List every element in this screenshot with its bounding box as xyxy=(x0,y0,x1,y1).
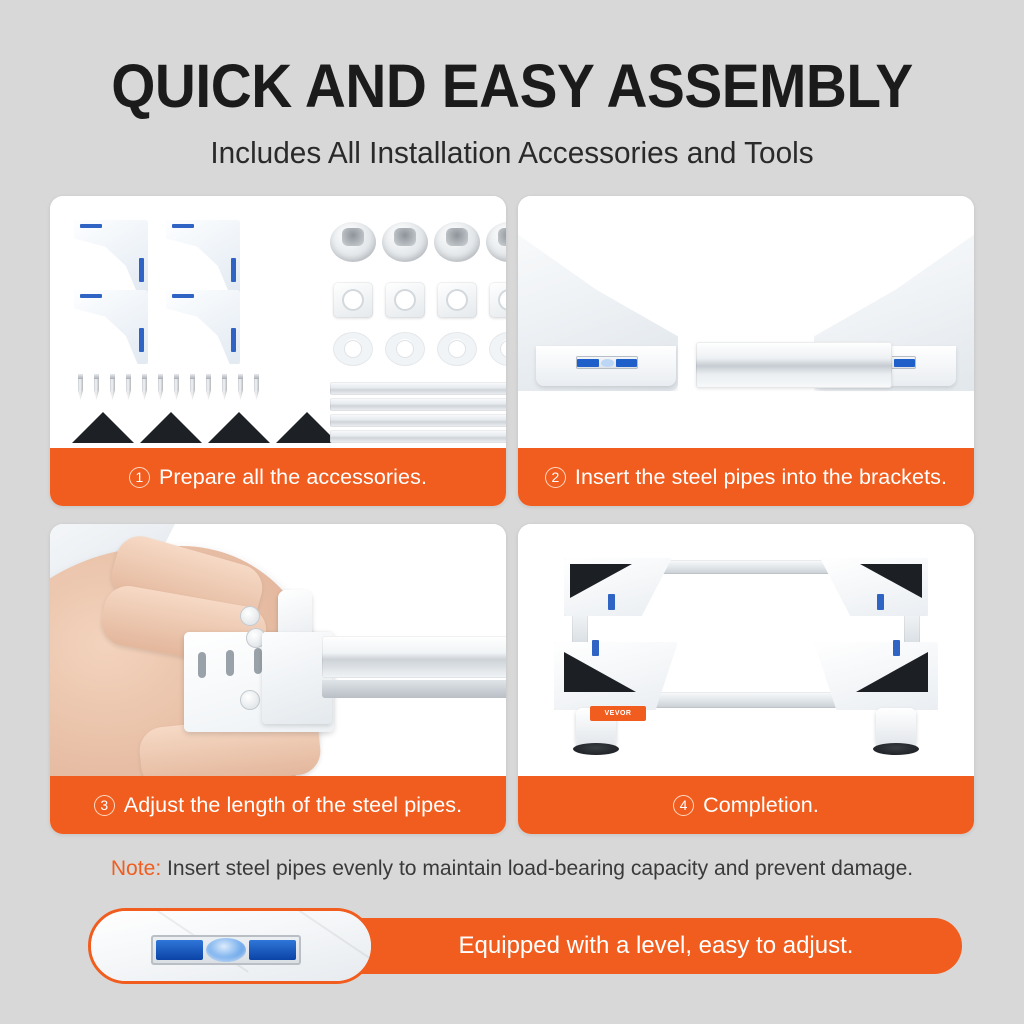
step-1-caption-text: Prepare all the accessories. xyxy=(159,465,427,490)
blue-accent xyxy=(592,640,599,656)
screw-part xyxy=(158,374,163,400)
step-panel-1: 1 Prepare all the accessories. xyxy=(50,196,506,506)
screw-part xyxy=(222,374,227,400)
rubber-pad-part xyxy=(140,412,202,443)
blue-accent xyxy=(877,594,884,610)
note-line: Note: Insert steel pipes evenly to maint… xyxy=(10,856,1014,881)
level-liquid-left xyxy=(577,359,599,367)
adjustable-foot-part xyxy=(434,222,480,262)
adjustable-foot-part xyxy=(382,222,428,262)
square-nut-part xyxy=(437,282,477,318)
step-panel-4: VEVOR 4 Completion. xyxy=(518,524,974,834)
step-3-caption: 3 Adjust the length of the steel pipes. xyxy=(50,776,506,834)
square-nut-part xyxy=(489,282,506,318)
bracket-boss xyxy=(240,606,260,626)
bracket-slot xyxy=(226,650,234,676)
corner-bracket-part xyxy=(74,220,148,294)
screw-part xyxy=(206,374,211,400)
level-liquid-right xyxy=(616,359,638,367)
corner-bracket-part xyxy=(166,220,240,294)
rubber-pad-part xyxy=(72,412,134,443)
screw-part xyxy=(190,374,195,400)
lock-ring-part xyxy=(385,332,425,366)
brand-label: VEVOR xyxy=(590,706,646,721)
steel-pipe-part xyxy=(330,414,506,427)
screw-part xyxy=(174,374,179,400)
steel-pipe xyxy=(322,636,506,678)
page-subtitle: Includes All Installation Accessories an… xyxy=(20,135,1003,171)
page-title: QUICK AND EASY ASSEMBLY xyxy=(36,55,988,117)
step-3-illustration xyxy=(50,524,506,776)
level-vial xyxy=(151,935,301,965)
rubber-pad-part xyxy=(208,412,270,443)
step-3-caption-text: Adjust the length of the steel pipes. xyxy=(124,793,462,818)
steel-pipe-part xyxy=(330,398,506,411)
adjustable-foot-part xyxy=(330,222,376,262)
step-number-2: 2 xyxy=(545,467,566,488)
step-4-caption-text: Completion. xyxy=(703,793,819,818)
step-4-caption: 4 Completion. xyxy=(518,776,974,834)
level-bubble xyxy=(601,359,614,367)
steel-pipe-part xyxy=(330,382,506,395)
lock-ring-part xyxy=(437,332,477,366)
step-panel-2: 2 Insert the steel pipes into the bracke… xyxy=(518,196,974,506)
step-4-illustration: VEVOR xyxy=(518,524,974,776)
level-liquid-right xyxy=(894,359,916,367)
adjustable-foot-part xyxy=(486,222,506,262)
screw-part xyxy=(238,374,243,400)
adjustable-foot xyxy=(876,708,916,750)
corner-bracket-part xyxy=(74,290,148,364)
level-bubble xyxy=(206,938,246,962)
top-rail xyxy=(646,560,846,574)
assembled-base: VEVOR xyxy=(550,546,942,756)
step-1-caption: 1 Prepare all the accessories. xyxy=(50,448,506,506)
rubber-pad-part xyxy=(276,412,338,443)
steel-pipe-shadow xyxy=(322,680,506,698)
bracket-boss xyxy=(240,690,260,710)
step-number-3: 3 xyxy=(94,795,115,816)
blue-accent xyxy=(608,594,615,610)
step-number-1: 1 xyxy=(129,467,150,488)
steel-pipe-part xyxy=(330,430,506,443)
bracket-slot xyxy=(254,648,262,674)
square-nut-part xyxy=(333,282,373,318)
screw-part xyxy=(126,374,131,400)
blue-accent xyxy=(893,640,900,656)
level-liquid-right xyxy=(249,940,296,960)
product-infographic: QUICK AND EASY ASSEMBLY Includes All Ins… xyxy=(0,0,1024,1024)
step-panel-3: 3 Adjust the length of the steel pipes. xyxy=(50,524,506,834)
steel-pipe xyxy=(696,342,892,388)
bubble-level-photo xyxy=(88,908,374,984)
lock-ring-part xyxy=(489,332,506,366)
note-text: Insert steel pipes evenly to maintain lo… xyxy=(167,856,913,880)
step-number-4: 4 xyxy=(673,795,694,816)
screw-part xyxy=(94,374,99,400)
bottom-rail xyxy=(646,692,846,708)
corner-bracket-part xyxy=(166,290,240,364)
screw-part xyxy=(78,374,83,400)
step-2-caption: 2 Insert the steel pipes into the bracke… xyxy=(518,448,974,506)
note-label: Note: xyxy=(111,856,161,880)
level-liquid-left xyxy=(156,940,203,960)
screw-part xyxy=(110,374,115,400)
square-nut-part xyxy=(385,282,425,318)
step-2-illustration xyxy=(518,196,974,448)
screw-part xyxy=(142,374,147,400)
bracket-slot xyxy=(198,652,206,678)
lock-ring-part xyxy=(333,332,373,366)
bubble-level-indicator xyxy=(576,356,638,369)
step-1-illustration xyxy=(50,196,506,448)
feature-banner-text: Equipped with a level, easy to adjust. xyxy=(459,932,854,960)
step-2-caption-text: Insert the steel pipes into the brackets… xyxy=(575,465,947,490)
screw-part xyxy=(254,374,259,400)
